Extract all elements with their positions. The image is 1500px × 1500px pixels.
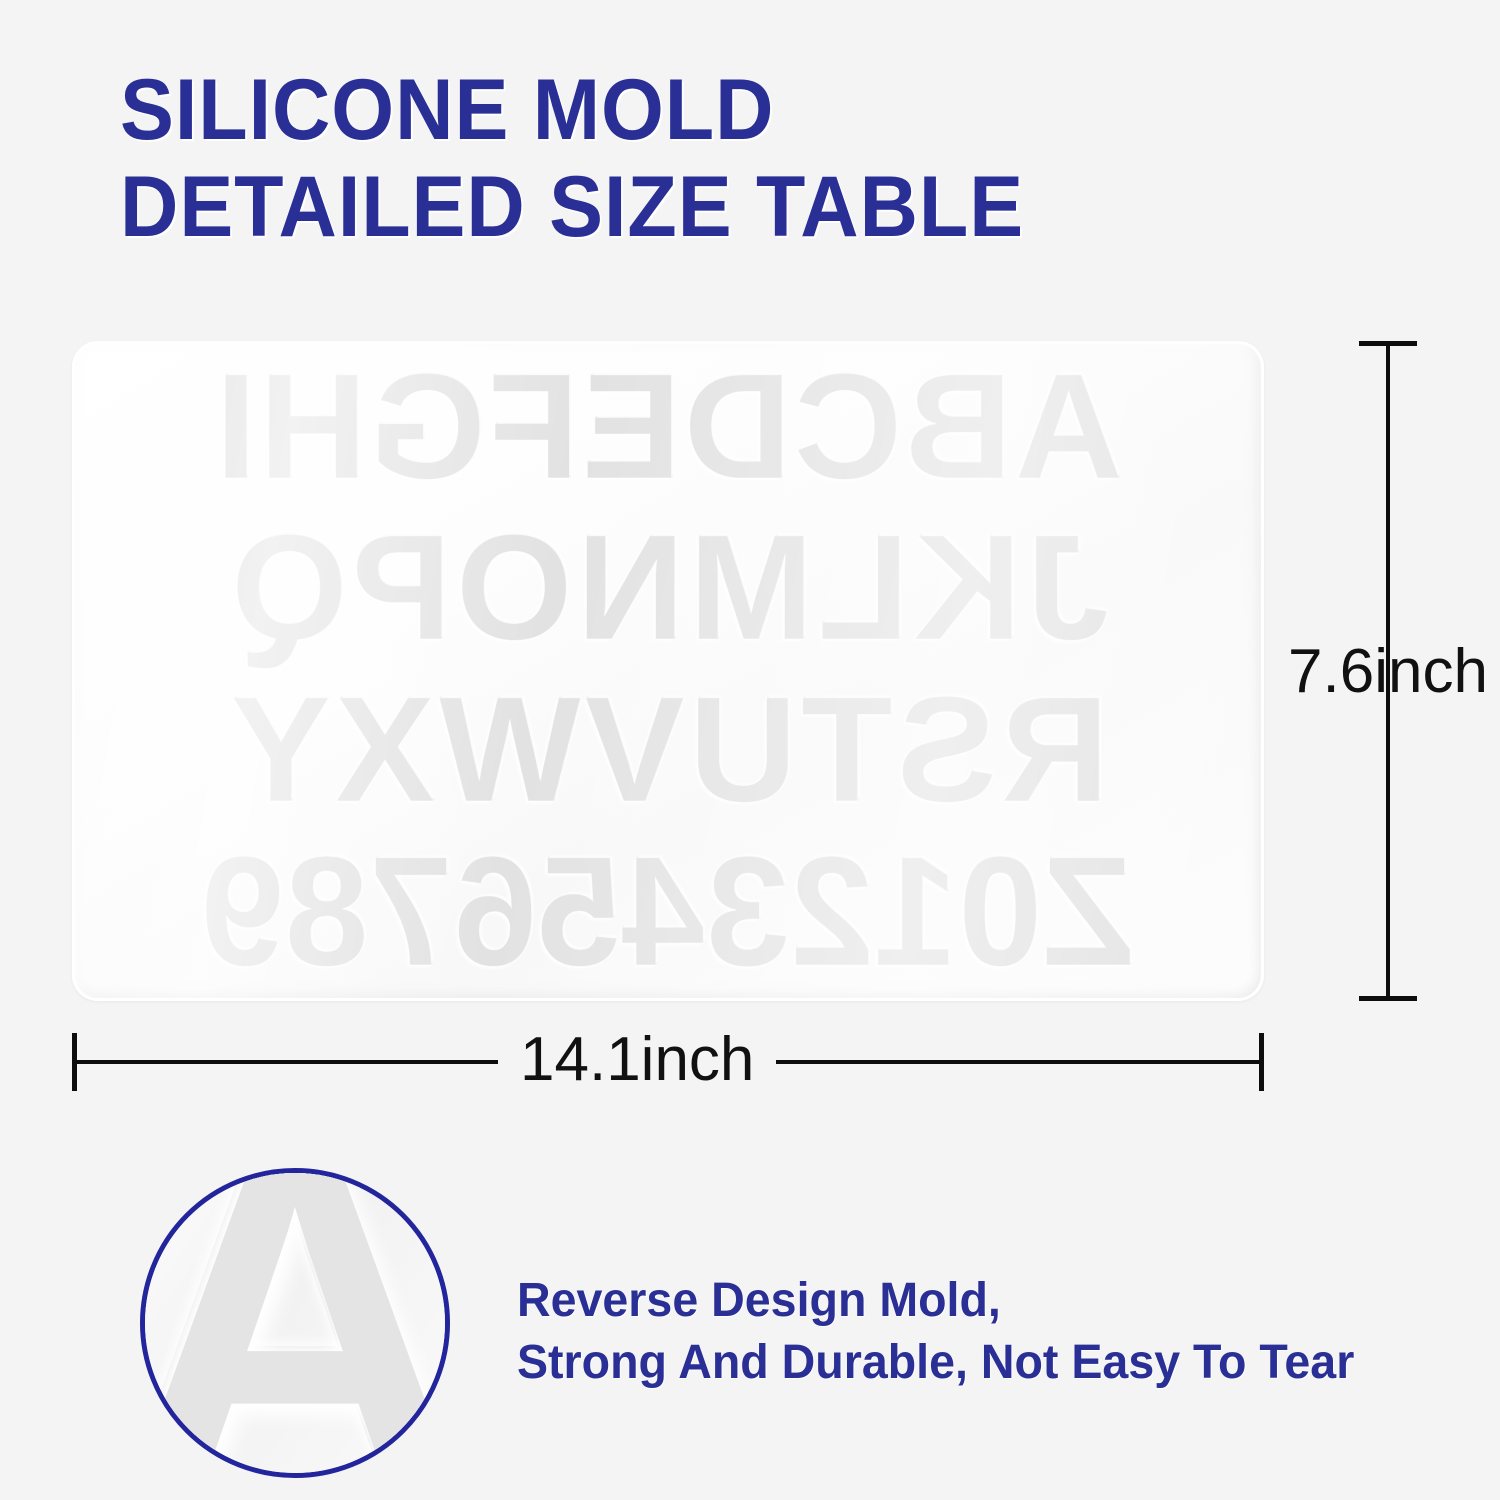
detail-letter-a-cavity: A [140, 1168, 450, 1478]
detail-closeup-surface: A [145, 1173, 445, 1473]
mold-row-glyphs: Z0123456789 [201, 841, 1135, 985]
feature-caption: Reverse Design Mold, Strong And Durable,… [517, 1270, 1417, 1394]
height-dimension-label: 7.6inch [1288, 636, 1488, 707]
dimension-cap-top [1359, 341, 1417, 346]
mold-row-glyphs: ABCDEFGHI [213, 357, 1123, 495]
mold-row: ABCDEFGHI [86, 357, 1250, 495]
detail-closeup-circle: A [140, 1168, 450, 1478]
dimension-cap-bottom [1359, 996, 1417, 1001]
mold-row: JKLMNOPQ [86, 518, 1250, 656]
mold-row: RSTUVWXY [86, 680, 1250, 818]
mold-row: Z0123456789 [86, 841, 1250, 985]
mold-cavity-rows: ABCDEFGHI JKLMNOPQ RSTUVWXY Z0123456789 [86, 357, 1250, 985]
mold-row-glyphs: JKLMNOPQ [227, 518, 1109, 656]
caption-line-2: Strong And Durable, Not Easy To Tear [517, 1332, 1390, 1394]
mold-slab: ABCDEFGHI JKLMNOPQ RSTUVWXY Z0123456789 [72, 341, 1264, 1001]
title-line-2: DETAILED SIZE TABLE [120, 159, 1342, 256]
title-line-1: SILICONE MOLD [120, 62, 1342, 159]
dimension-cap-left [72, 1033, 77, 1091]
caption-line-1: Reverse Design Mold, [517, 1270, 1390, 1332]
dimension-cap-right [1259, 1033, 1264, 1091]
mold-row-glyphs: RSTUVWXY [227, 680, 1109, 818]
width-dimension-label: 14.1inch [498, 1024, 776, 1095]
product-infographic: SILICONE MOLD DETAILED SIZE TABLE ABCDEF… [0, 0, 1500, 1500]
silicone-mold-image: ABCDEFGHI JKLMNOPQ RSTUVWXY Z0123456789 [72, 341, 1264, 1001]
page-title: SILICONE MOLD DETAILED SIZE TABLE [120, 62, 1420, 256]
